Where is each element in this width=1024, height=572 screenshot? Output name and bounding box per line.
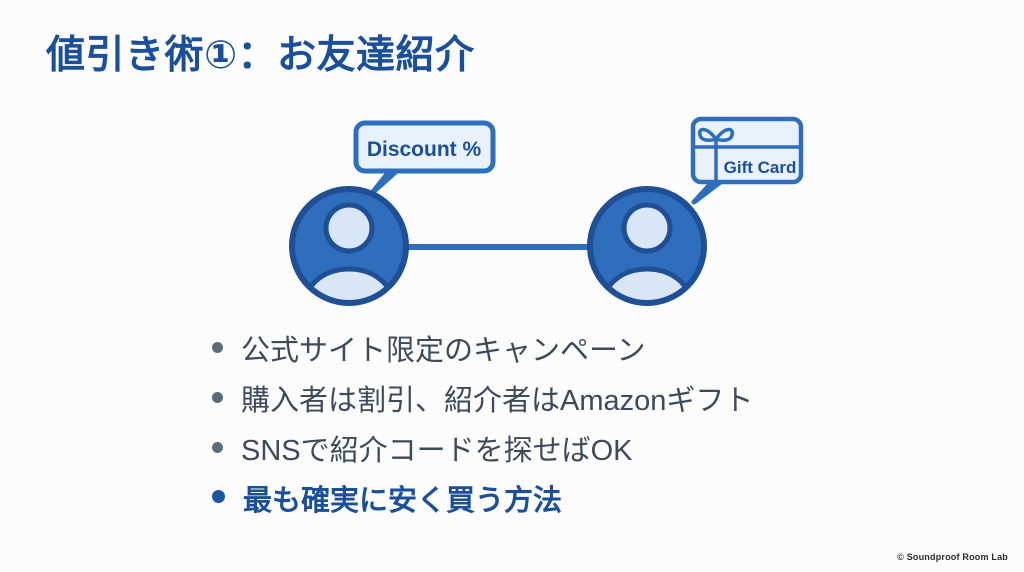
bullet-dot-icon (212, 392, 223, 403)
slide-canvas: 値引き術①：お友達紹介 Discount % Gift Card (0, 0, 1024, 572)
right-avatar-body-icon (605, 269, 689, 331)
list-item: SNSで紹介コードを探せばOK (212, 433, 972, 483)
referral-diagram: Discount % Gift Card (0, 0, 1024, 340)
list-item-label: 最も確実に安く買う方法 (243, 483, 562, 519)
right-person-avatar (590, 189, 704, 331)
right-avatar-head-icon (624, 205, 670, 251)
list-item: 購入者は割引、紹介者はAmazonギフト (212, 383, 972, 433)
bullet-dot-icon (212, 490, 225, 503)
footer-credit: © Soundproof Room Lab (897, 552, 1008, 562)
left-avatar-head-icon (326, 205, 372, 251)
bullet-list: 公式サイト限定のキャンペーン 購入者は割引、紹介者はAmazonギフト SNSで… (212, 333, 972, 533)
left-person-avatar (292, 189, 406, 331)
discount-bubble-label: Discount % (367, 138, 482, 161)
list-item-label: SNSで紹介コードを探せばOK (241, 433, 633, 469)
left-avatar-body-icon (307, 269, 391, 331)
bullet-dot-icon (212, 342, 223, 353)
list-item-emphasis: 最も確実に安く買う方法 (212, 483, 972, 533)
list-item-label: 購入者は割引、紹介者はAmazonギフト (241, 383, 753, 419)
list-item-label: 公式サイト限定のキャンペーン (241, 333, 646, 369)
bullet-dot-icon (212, 442, 223, 453)
gift-card-bubble-label: Gift Card (724, 158, 797, 177)
list-item: 公式サイト限定のキャンペーン (212, 333, 972, 383)
